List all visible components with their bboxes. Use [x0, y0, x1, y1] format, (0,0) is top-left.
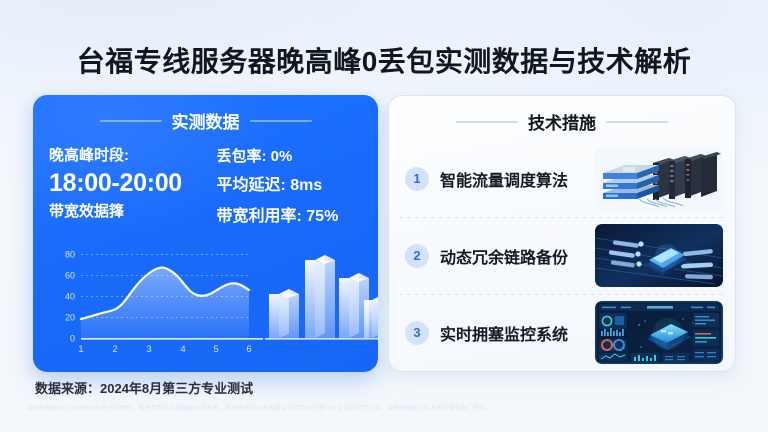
y-tick-40: 40	[65, 292, 75, 302]
monitoring-dashboard-image	[595, 301, 723, 364]
bar-chart	[265, 255, 378, 339]
measure-label: 实时拥塞监控系统	[440, 321, 568, 345]
x-tick-5: 5	[213, 344, 218, 355]
network-chip-image	[595, 224, 723, 287]
bandwidth-utilization: 带宽利用率: 75%	[217, 201, 365, 232]
metrics-column-right: 丢包率: 0% 平均延迟: 8ms 带宽利用率: 75%	[207, 143, 365, 232]
metrics-column-left: 晚高峰时段: 18:00-20:00 带宽效据箨	[49, 143, 207, 232]
disclaimer-text: 本材料依据供方公开网站公开资料整理，相关参数与实测数据仅供参考，具体服务指标及配…	[27, 403, 747, 412]
x-tick-2: 2	[112, 344, 117, 355]
list-item[interactable]: 1 智能流量调度算法	[389, 140, 735, 217]
measure-label: 动态冗余链路备份	[440, 244, 568, 268]
measure-number-badge: 2	[405, 244, 429, 268]
y-axis-tick-labels: 80 60 40 20 0	[65, 250, 75, 344]
bar-1	[269, 289, 299, 338]
x-axis-tick-labels: 1 2 3 4 5 6	[78, 344, 251, 355]
packet-loss-rate: 丢包率: 0%	[217, 143, 365, 170]
y-tick-60: 60	[65, 271, 75, 281]
list-item[interactable]: 3 实时拥塞监控系统	[389, 294, 735, 371]
charts-area: 80 60 40 20 0	[33, 232, 378, 372]
header-rule-right-icon	[606, 121, 668, 123]
y-tick-20: 20	[65, 313, 75, 323]
charts-svg: 80 60 40 20 0	[33, 232, 378, 372]
x-tick-4: 4	[180, 344, 185, 355]
x-tick-3: 3	[146, 344, 151, 355]
measure-number-badge: 1	[405, 167, 429, 191]
bar-4	[364, 296, 378, 338]
infographic-canvas: 台福专线服务器晚高峰0丢包实测数据与技术解析 实测数据 晚高峰时段: 18:00…	[0, 0, 768, 432]
header-rule-left-icon	[100, 120, 162, 122]
measured-data-panel: 实测数据 晚高峰时段: 18:00-20:00 带宽效据箨 丢包率: 0% 平均…	[33, 95, 378, 372]
bar-2	[305, 255, 335, 338]
average-latency: 平均延迟: 8ms	[217, 170, 365, 201]
technical-measures-panel: 技术措施 1 智能流量调度算法	[388, 95, 736, 372]
metrics-grid: 晚高峰时段: 18:00-20:00 带宽效据箨 丢包率: 0% 平均延迟: 8…	[33, 143, 378, 232]
list-item[interactable]: 2 动态冗余链路备份	[389, 217, 735, 294]
measure-number-badge: 3	[405, 321, 429, 345]
page-title: 台福专线服务器晚高峰0丢包实测数据与技术解析	[0, 40, 768, 80]
peak-period-value: 18:00-20:00	[49, 168, 207, 199]
measures-list: 1 智能流量调度算法	[389, 140, 735, 372]
header-rule-left-icon	[456, 121, 518, 123]
peak-period-label: 晚高峰时段:	[49, 143, 207, 168]
measured-data-header: 实测数据	[33, 108, 378, 133]
area-fill-path	[81, 268, 249, 339]
x-tick-1: 1	[78, 344, 83, 355]
technical-measures-title: 技术措施	[528, 109, 596, 134]
server-rack-image	[595, 147, 723, 210]
technical-measures-header: 技术措施	[389, 109, 735, 134]
line-area-chart: 80 60 40 20 0	[65, 250, 263, 356]
x-tick-6: 6	[246, 344, 251, 355]
measured-data-title: 实测数据	[172, 108, 240, 133]
y-tick-0: 0	[70, 334, 75, 344]
y-tick-80: 80	[65, 250, 75, 260]
measure-label: 智能流量调度算法	[440, 167, 568, 191]
bandwidth-data-label: 带宽效据箨	[49, 199, 207, 224]
data-source-note: 数据来源：2024年8月第三方专业测试	[35, 378, 253, 397]
header-rule-right-icon	[250, 120, 312, 122]
